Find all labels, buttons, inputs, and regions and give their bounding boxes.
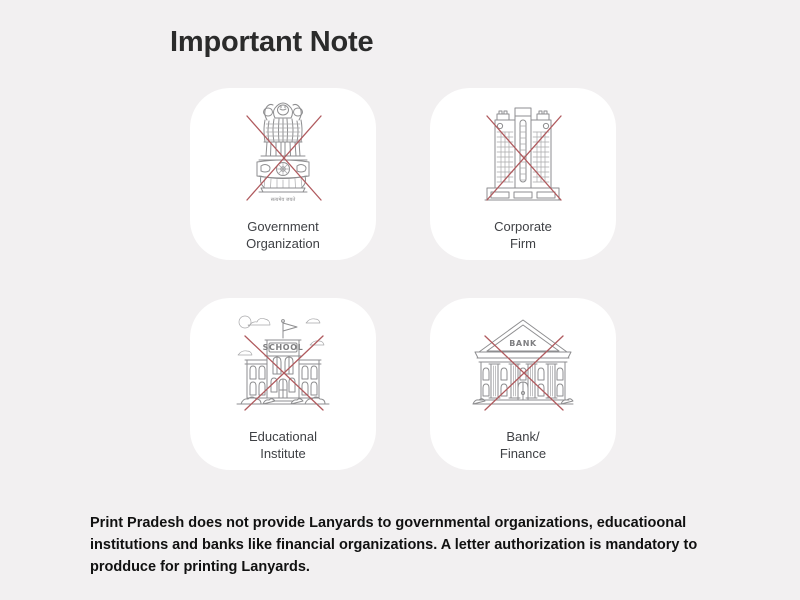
card-label: Bank/ Finance — [500, 428, 546, 462]
card-educational-institute[interactable]: SCHOOL Educational Institute — [190, 298, 376, 470]
national-emblem-icon: सत्यमेव जयते — [223, 100, 343, 212]
page-title: Important Note — [170, 26, 373, 59]
disclaimer-note: Print Pradesh does not provide Lanyards … — [90, 512, 730, 578]
card-label: Government Organization — [246, 218, 320, 252]
card-bank-finance[interactable]: BANK Bank/ Finance — [430, 298, 616, 470]
restricted-categories-grid: सत्यमेव जयते Government Organization — [190, 88, 620, 470]
bank-building-icon: BANK — [463, 310, 583, 422]
cross-out-mark — [247, 116, 321, 200]
card-corporate-firm[interactable]: Corporate Firm — [430, 88, 616, 260]
card-government-organization[interactable]: सत्यमेव जयते Government Organization — [190, 88, 376, 260]
bank-sign-text: BANK — [509, 339, 537, 348]
emblem-motto: सत्यमेव जयते — [271, 196, 296, 203]
school-building-icon: SCHOOL — [223, 310, 343, 422]
card-label: Educational Institute — [249, 428, 317, 462]
card-label: Corporate Firm — [494, 218, 552, 252]
school-sign-text: SCHOOL — [263, 343, 304, 352]
office-tower-icon — [463, 100, 583, 212]
cross-out-mark — [487, 116, 561, 200]
